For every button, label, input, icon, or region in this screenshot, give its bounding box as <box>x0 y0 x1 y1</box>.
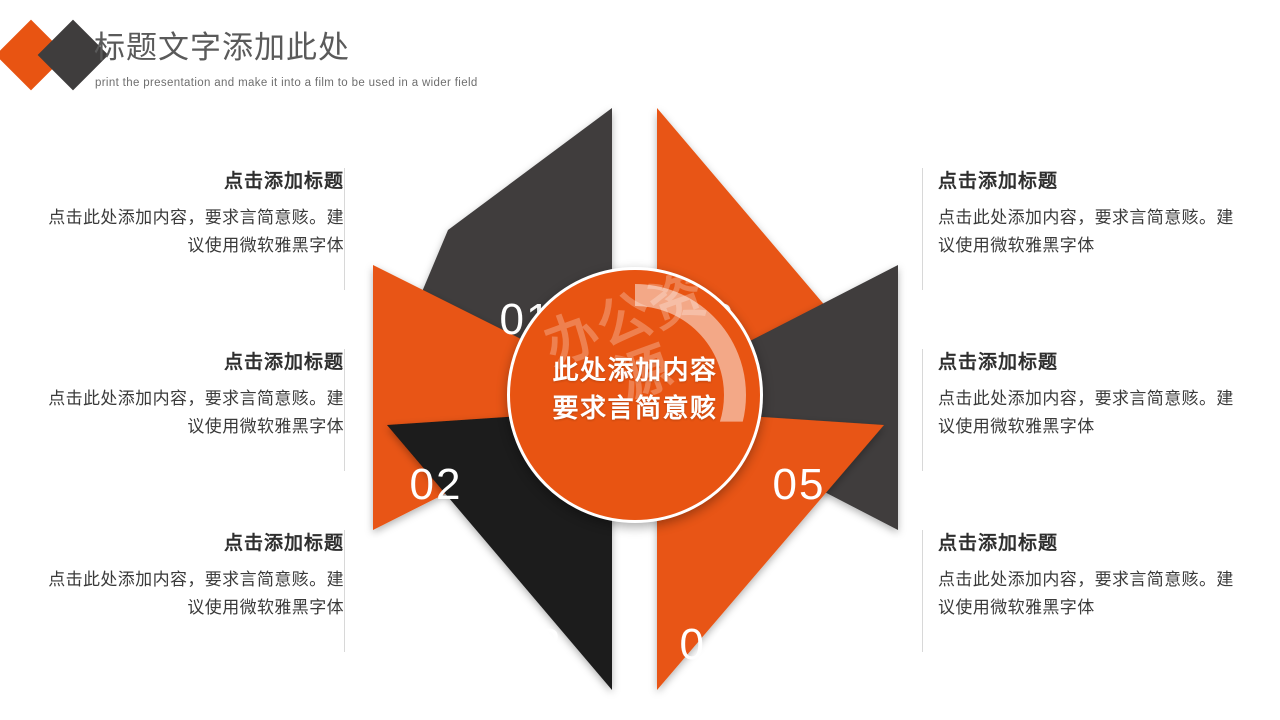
text-block-body: 点击此处添加内容，要求言简意赅。建议使用微软雅黑字体 <box>938 204 1238 259</box>
center-text-line-1: 此处添加内容 <box>510 352 760 390</box>
text-block-title: 点击添加标题 <box>938 534 1238 553</box>
text-block-title: 点击添加标题 <box>938 353 1238 372</box>
text-block-title: 点击添加标题 <box>938 172 1238 191</box>
center-text: 此处添加内容 要求言简意赅 <box>510 352 760 427</box>
text-block-title: 点击添加标题 <box>44 534 344 553</box>
divider-left-1 <box>344 168 345 290</box>
divider-left-3 <box>344 530 345 652</box>
text-block-left-1[interactable]: 点击添加标题 点击此处添加内容，要求言简意赅。建议使用微软雅黑字体 <box>44 172 344 259</box>
text-block-right-3[interactable]: 点击添加标题 点击此处添加内容，要求言简意赅。建议使用微软雅黑字体 <box>938 534 1238 621</box>
text-block-body: 点击此处添加内容，要求言简意赅。建议使用微软雅黑字体 <box>938 385 1238 440</box>
text-block-left-3[interactable]: 点击添加标题 点击此处添加内容，要求言简意赅。建议使用微软雅黑字体 <box>44 534 344 621</box>
center-text-line-2: 要求言简意赅 <box>510 390 760 428</box>
text-block-body: 点击此处添加内容，要求言简意赅。建议使用微软雅黑字体 <box>44 204 344 259</box>
text-block-body: 点击此处添加内容，要求言简意赅。建议使用微软雅黑字体 <box>44 385 344 440</box>
page-title: 标题文字添加此处 <box>94 32 350 63</box>
divider-right-1 <box>922 168 923 290</box>
text-block-body: 点击此处添加内容，要求言简意赅。建议使用微软雅黑字体 <box>44 566 344 621</box>
text-block-body: 点击此处添加内容，要求言简意赅。建议使用微软雅黑字体 <box>938 566 1238 621</box>
text-block-right-2[interactable]: 点击添加标题 点击此处添加内容，要求言简意赅。建议使用微软雅黑字体 <box>938 353 1238 440</box>
divider-right-3 <box>922 530 923 652</box>
center-circle[interactable]: 办公资源 此处添加内容 要求言简意赅 <box>507 267 763 523</box>
text-block-title: 点击添加标题 <box>44 172 344 191</box>
text-block-title: 点击添加标题 <box>44 353 344 372</box>
divider-left-2 <box>344 349 345 471</box>
page-subtitle: print the presentation and make it into … <box>95 77 478 89</box>
text-block-right-1[interactable]: 点击添加标题 点击此处添加内容，要求言简意赅。建议使用微软雅黑字体 <box>938 172 1238 259</box>
text-block-left-2[interactable]: 点击添加标题 点击此处添加内容，要求言简意赅。建议使用微软雅黑字体 <box>44 353 344 440</box>
divider-right-2 <box>922 349 923 471</box>
